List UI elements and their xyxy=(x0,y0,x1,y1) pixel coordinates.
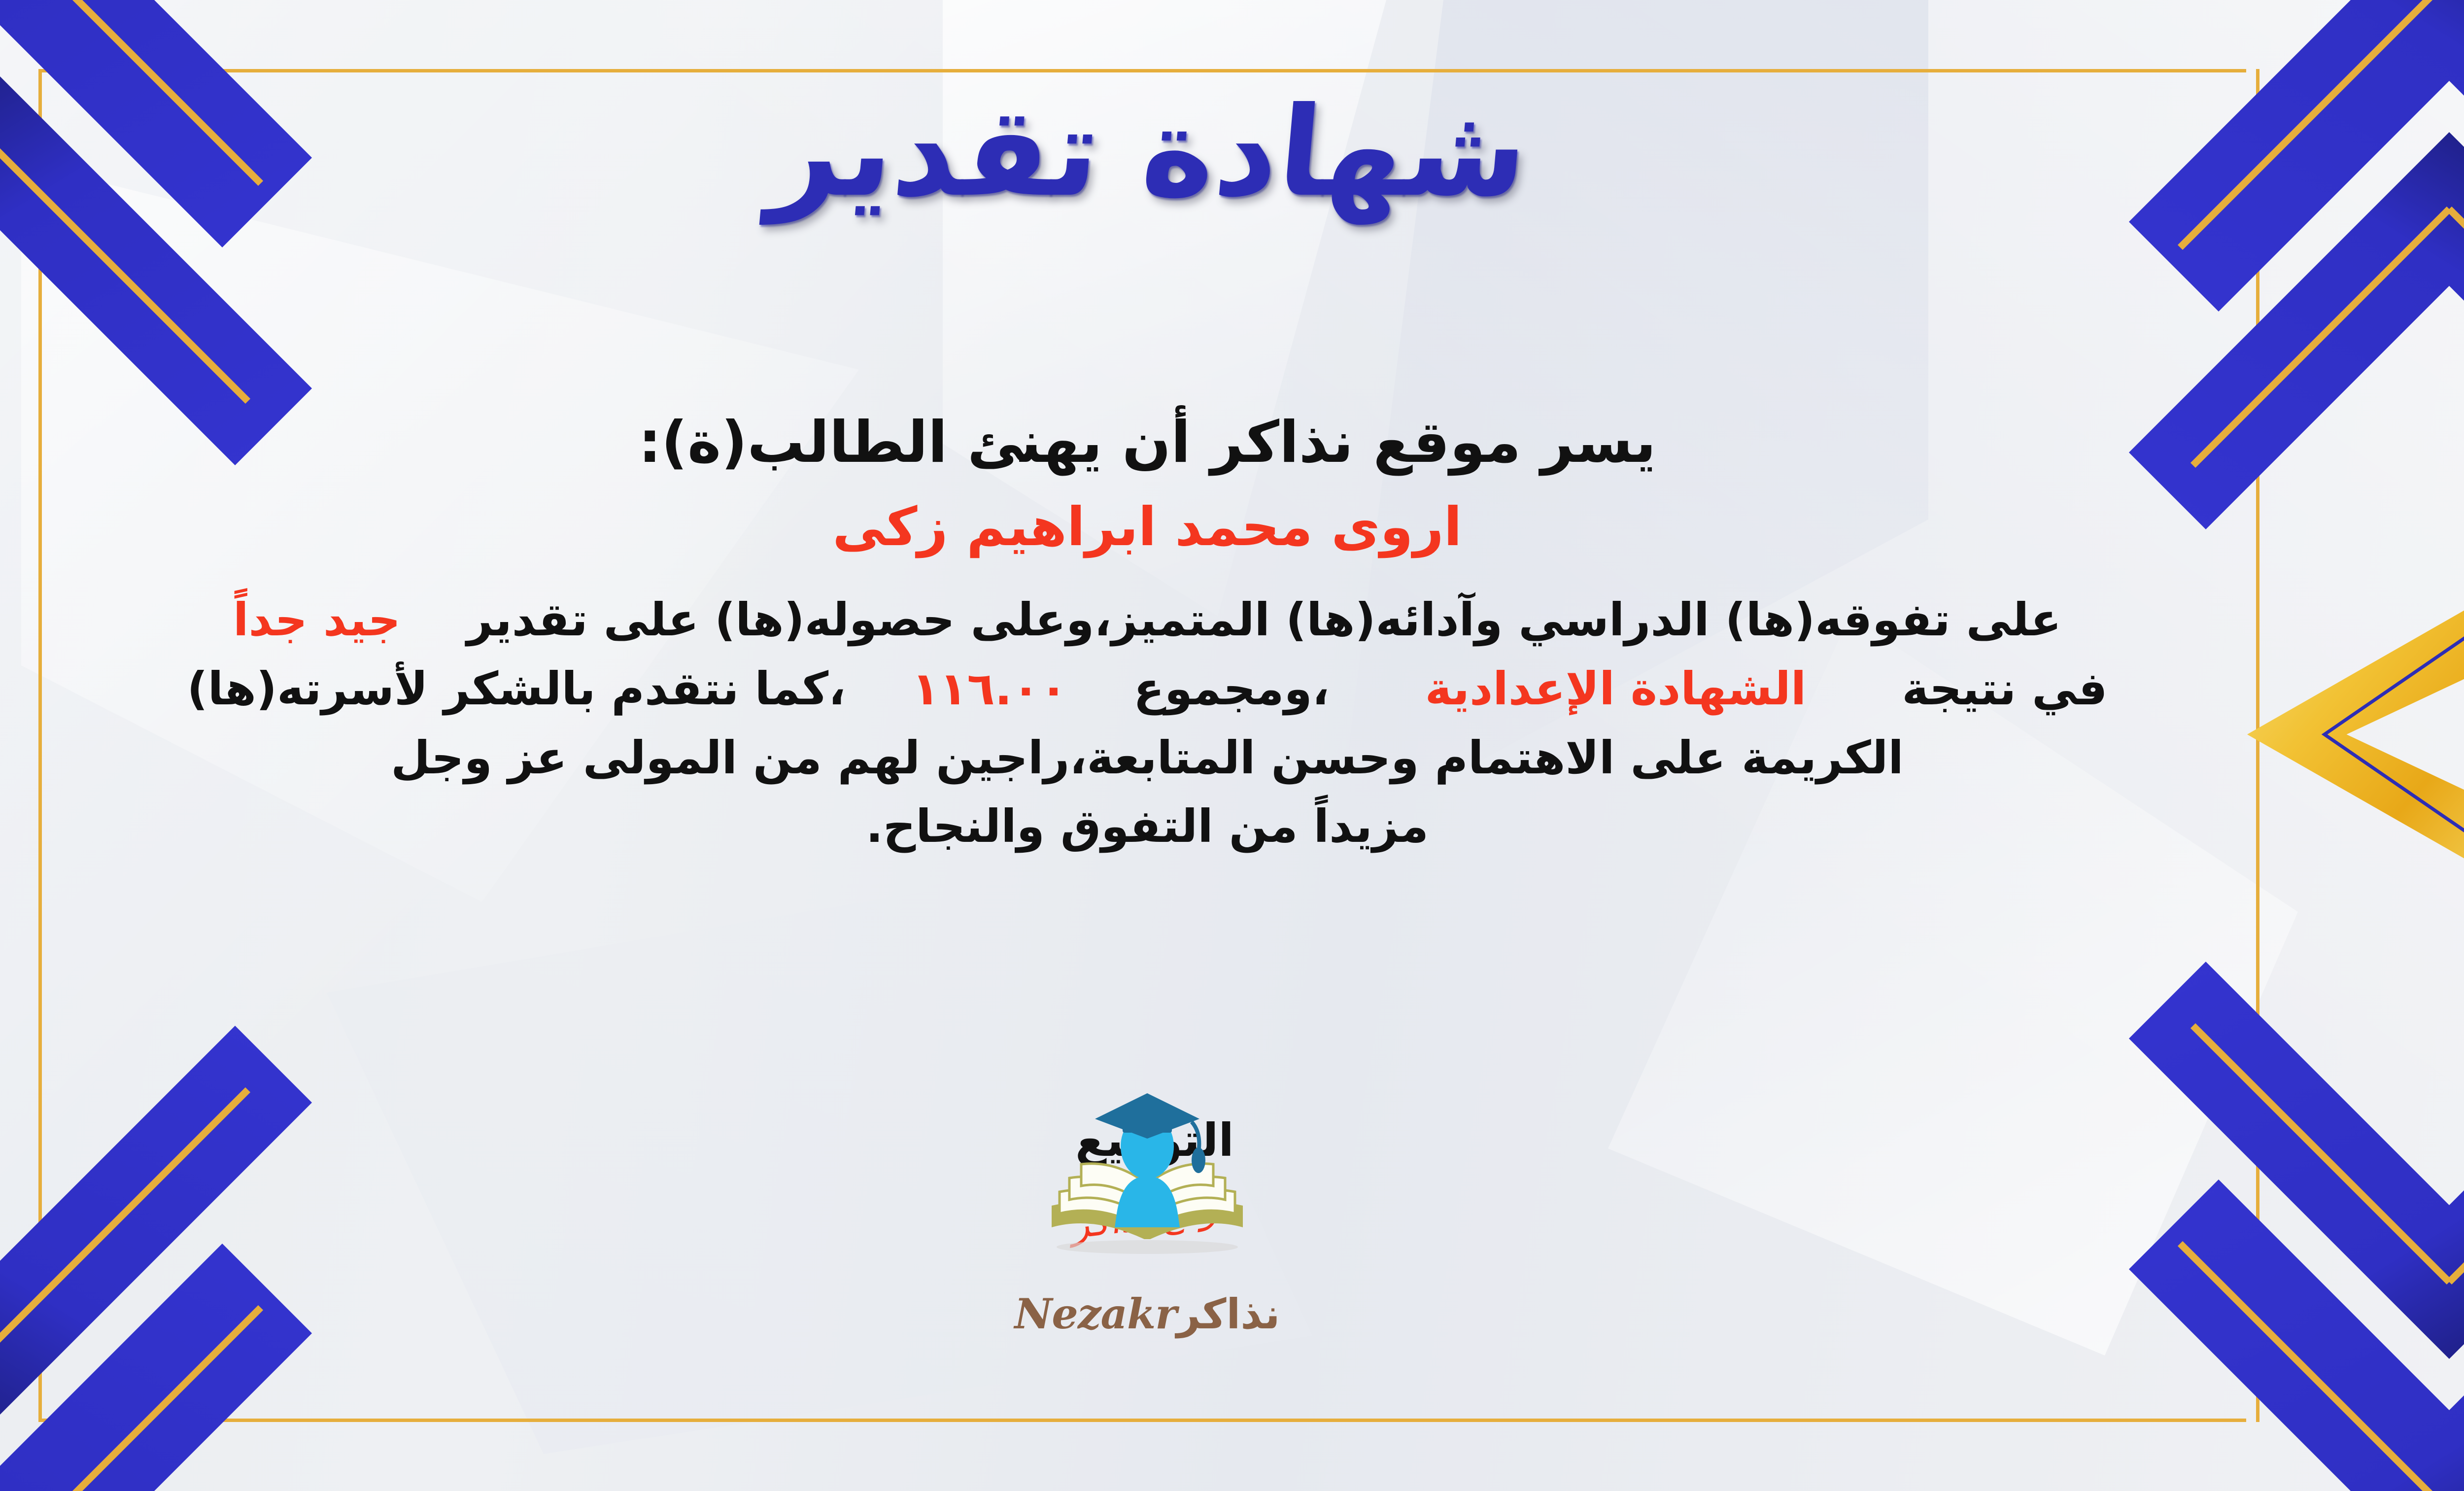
greeting-line: يسر موقع نذاكر أن يهنئ الطالب(ة): xyxy=(46,409,2249,476)
citation-line-2-prefix: في نتيجة xyxy=(1902,662,2107,715)
brand-logo-text: نذاكرNezakr xyxy=(975,1289,1320,1338)
citation-line-1: على تفوقه(ها) الدراسي وآدائه(ها) المتميز… xyxy=(100,586,2194,655)
citation-line-4: مزيداً من التفوق والنجاح. xyxy=(100,792,2194,861)
border-frame-top xyxy=(38,69,2246,72)
certificate-canvas: شهادة تقدير يسر موقع نذاكر أن يهنئ الطال… xyxy=(0,0,2464,1491)
certificate-title: شهادة تقدير xyxy=(764,81,1533,223)
citation-line-2: في نتيجة الشهادة الإعدادية ،ومجموع ١١٦.٠… xyxy=(100,655,2194,724)
brand-name-arabic: نذاكر xyxy=(1176,1290,1280,1338)
certificate-name-value: الشهادة الإعدادية xyxy=(1425,662,1807,715)
citation-line-3: الكريمة على الاهتمام وحسن المتابعة،راجين… xyxy=(100,724,2194,793)
border-frame-bottom xyxy=(38,1419,2246,1422)
brand-name-latin: Nezakr xyxy=(1015,1289,1177,1338)
border-frame-right xyxy=(2256,69,2259,1422)
brand-logo: نذاكرNezakr xyxy=(975,1089,1320,1338)
citation-line-1-text: على تفوقه(ها) الدراسي وآدائه(ها) المتميز… xyxy=(467,593,2061,646)
citation-line-2-middle: ،ومجموع xyxy=(1133,662,1330,715)
student-name: اروى محمد ابراهيم زكى xyxy=(46,496,2249,558)
certificate-body: يسر موقع نذاكر أن يهنئ الطالب(ة): اروى م… xyxy=(46,409,2249,861)
border-frame-left xyxy=(38,69,42,1422)
grade-value: جيد جداً xyxy=(233,593,401,646)
citation-paragraph: على تفوقه(ها) الدراسي وآدائه(ها) المتميز… xyxy=(46,586,2249,861)
gold-chevron-accent-icon xyxy=(2247,577,2464,892)
citation-line-2-suffix: ،كما نتقدم بالشكر لأسرته(ها) xyxy=(187,662,846,715)
certificate-footer: التوقيع موقع نذاكر xyxy=(46,1089,2249,1405)
title-block: شهادة تقدير xyxy=(0,81,2464,223)
total-score-value: ١١٦.٠٠ xyxy=(912,662,1067,715)
graduate-book-logo-icon xyxy=(1034,1089,1261,1286)
